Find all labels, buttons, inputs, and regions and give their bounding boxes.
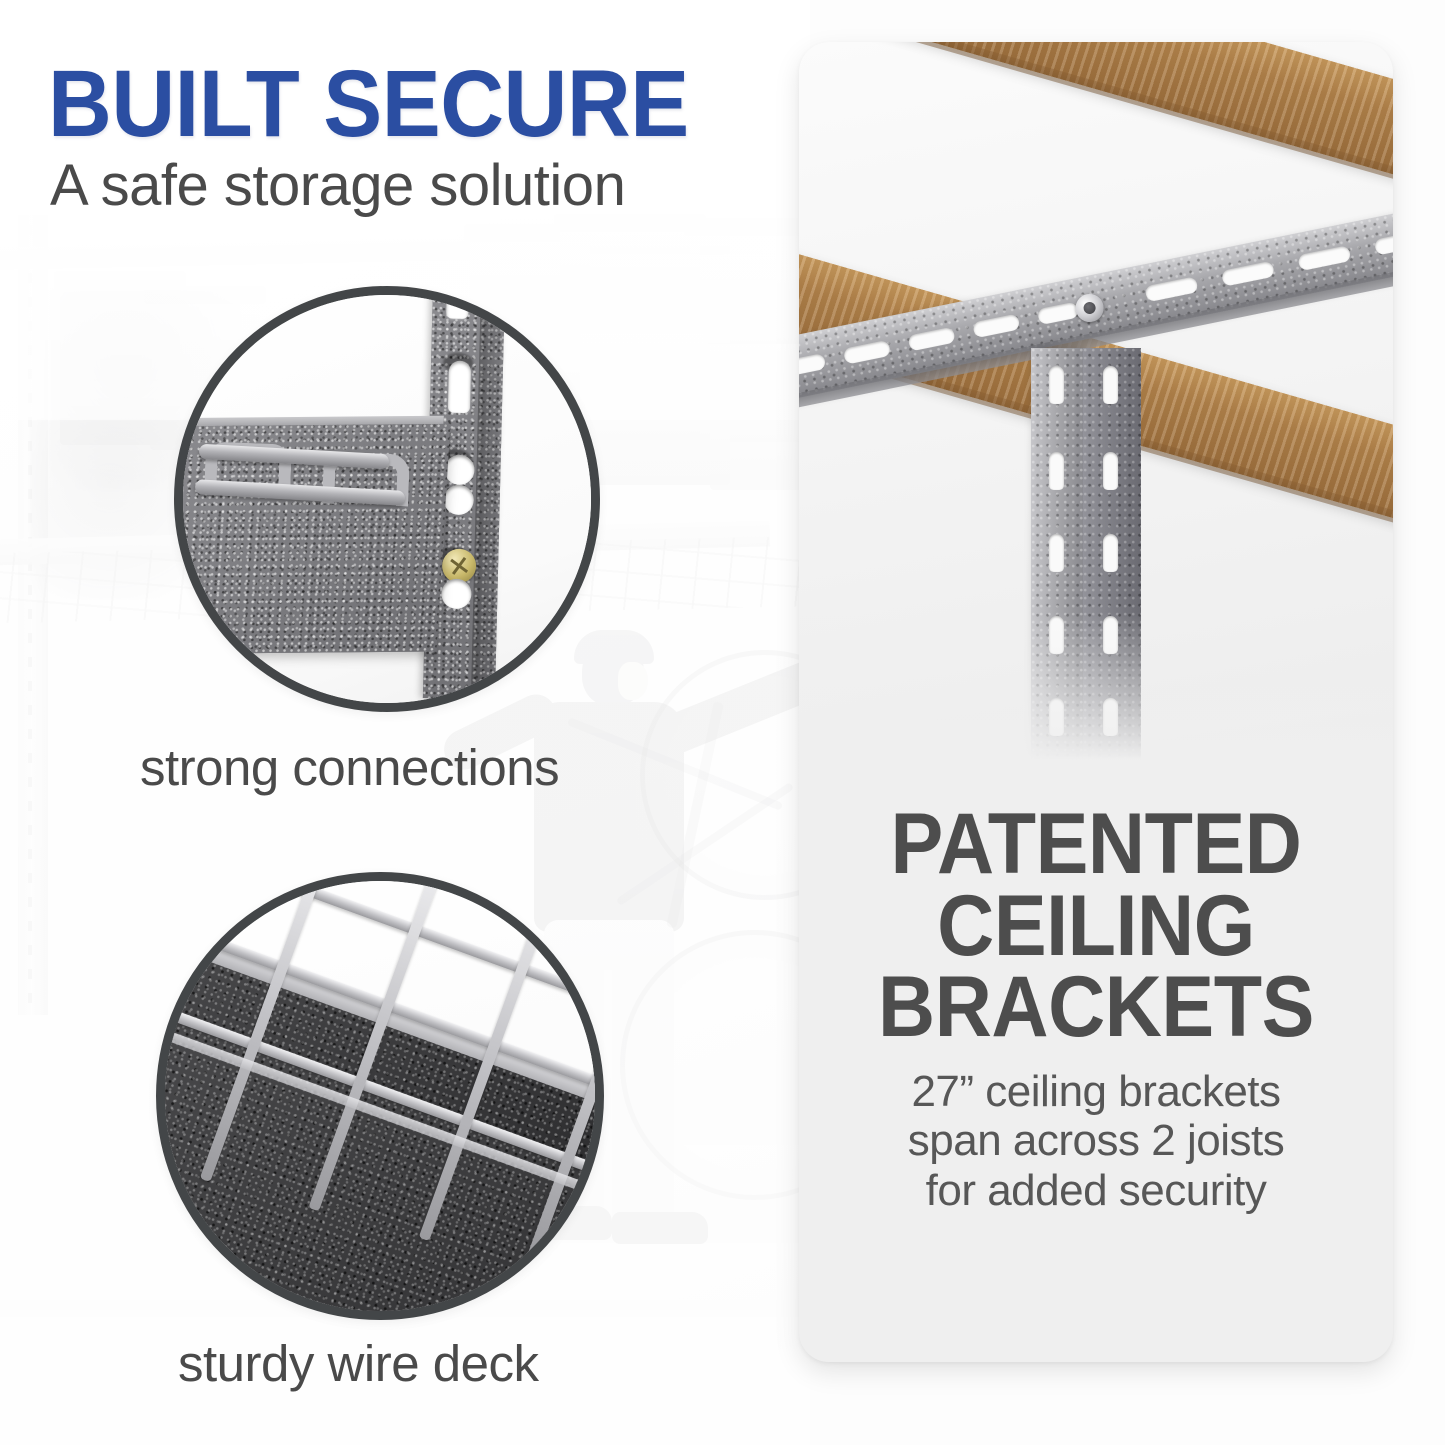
hanger-keyhole <box>1103 366 1118 404</box>
bracket-slot <box>1374 230 1393 256</box>
hanger-keyhole <box>1103 534 1118 572</box>
bracket-slot <box>843 340 891 365</box>
panel-heading-line-3: BRACKETS <box>836 967 1357 1049</box>
post-round-hole <box>444 455 475 486</box>
panel-heading: PATENTED CEILING BRACKETS <box>836 804 1357 1049</box>
panel-body-copy: 27” ceiling brackets span across 2 joist… <box>813 1067 1379 1215</box>
bracket-slot <box>799 353 826 378</box>
page-subtitle: A safe storage solution <box>50 157 748 215</box>
panel-body-line-1: 27” ceiling brackets <box>813 1067 1379 1116</box>
caption-sturdy-wire-deck: sturdy wire deck <box>178 1334 538 1393</box>
hanger-keyhole <box>1049 452 1064 490</box>
post-keyhole-slot <box>446 295 469 319</box>
hanger-keyhole <box>1103 452 1118 490</box>
panel-body-line-2: span across 2 joists <box>813 1116 1379 1165</box>
patented-brackets-panel: PATENTED CEILING BRACKETS 27” ceiling br… <box>799 42 1393 1362</box>
bracket-slot <box>972 314 1020 339</box>
infographic-canvas: BUILT SECURE A safe storage solution <box>0 0 1445 1445</box>
page-title: BUILT SECURE <box>48 58 699 151</box>
panel-heading-line-1: PATENTED <box>836 804 1357 886</box>
caption-strong-connections: strong connections <box>140 738 559 797</box>
bracket-slot <box>1037 302 1079 326</box>
post-round-hole <box>441 578 472 609</box>
headline-block: BUILT SECURE A safe storage solution <box>48 58 748 215</box>
hanger-keyhole <box>1049 534 1064 572</box>
panel-body-line-3: for added security <box>813 1166 1379 1215</box>
bracket-slot <box>908 327 956 352</box>
post-round-hole <box>443 485 474 516</box>
wire-deck-photo-inner <box>165 881 595 1311</box>
bracket-slot <box>1297 245 1351 271</box>
feature-photo-strong-connections <box>174 286 600 712</box>
feature-photo-sturdy-wire-deck <box>156 872 604 1320</box>
post-keyhole-slot <box>448 361 471 414</box>
strong-connections-photo-inner <box>183 295 591 703</box>
bracket-center-screw <box>1073 291 1106 324</box>
panel-text-block: PATENTED CEILING BRACKETS 27” ceiling br… <box>799 804 1393 1215</box>
bracket-slot <box>1221 261 1275 287</box>
mounting-screw <box>442 548 477 583</box>
hanger-keyhole <box>1049 366 1064 404</box>
bracket-slot <box>1144 276 1198 302</box>
panel-heading-line-2: CEILING <box>836 886 1357 968</box>
photo-bottom-fade <box>799 612 1393 802</box>
ceiling-bracket-photo <box>799 42 1393 802</box>
wood-joist-upper <box>799 42 1393 200</box>
